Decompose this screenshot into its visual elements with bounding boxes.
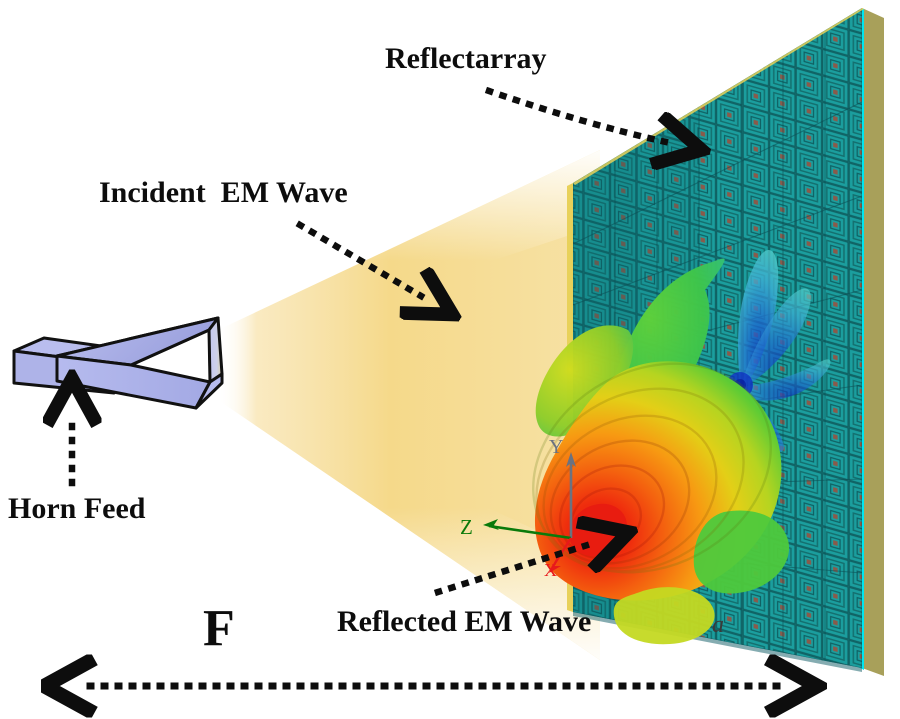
label-focal-distance: F: [203, 603, 235, 655]
reflectarray-leader: [489, 91, 666, 142]
lobe-yellow-lower: [614, 587, 715, 644]
figure-canvas: Reflectarray Incident EM Wave Horn Feed …: [0, 0, 900, 719]
label-incident-em-wave: Incident EM Wave: [99, 178, 348, 208]
axis-label-y: Y: [549, 437, 563, 457]
label-horn-feed: Horn Feed: [8, 494, 145, 524]
axis-label-z: Z: [460, 517, 473, 538]
panel-substrate-edge: [862, 8, 884, 676]
horn-feed-antenna[interactable]: [14, 318, 222, 408]
label-reflected-em-wave: Reflected EM Wave: [337, 607, 591, 637]
axis-label-x: X: [544, 561, 557, 579]
label-aperture-dimension: a: [712, 613, 724, 637]
label-reflectarray: Reflectarray: [385, 44, 547, 74]
